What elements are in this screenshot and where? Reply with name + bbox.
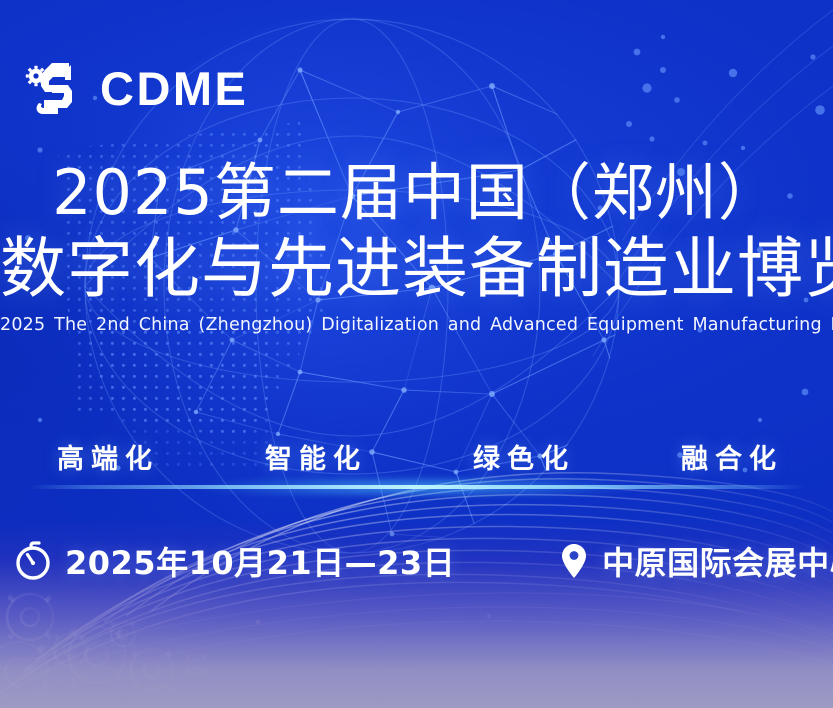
keyword-item-2: 智能化 — [258, 437, 367, 476]
event-info-row: 2025年10月21日—23日 中原国际会展中心 — [0, 538, 833, 584]
brand-logo-text: CDME — [100, 65, 248, 112]
event-venue-text: 中原国际会展中心 — [602, 538, 833, 584]
title-block: 2025第二届中国（郑州） 数字化与先进装备制造业博览会 2025 The 2n… — [0, 160, 833, 335]
event-title-line2: 数字化与先进装备制造业博览会 — [0, 233, 833, 306]
event-title-line1: 2025第二届中国（郑州） — [0, 160, 833, 227]
event-banner: CDME 2025第二届中国（郑州） 数字化与先进装备制造业博览会 2025 T… — [0, 0, 833, 708]
event-date-item: 2025年10月21日—23日 — [14, 538, 455, 584]
event-venue-item: 中原国际会展中心 — [559, 538, 833, 584]
brand-logo: CDME — [22, 55, 248, 121]
location-pin-icon — [559, 541, 589, 581]
keyword-item-1: 高端化 — [50, 437, 159, 476]
clock-icon — [14, 541, 52, 581]
keyword-item-3: 绿色化 — [466, 437, 575, 476]
cdme-gear-s-logo-icon — [22, 55, 86, 121]
keyword-item-4: 融合化 — [674, 437, 783, 476]
keyword-list: 高端化 智能化 绿色化 融合化 — [50, 437, 783, 476]
section-divider — [28, 485, 805, 489]
event-date-text: 2025年10月21日—23日 — [65, 538, 455, 584]
event-title-english: 2025 The 2nd China (Zhengzhou) Digitaliz… — [0, 315, 833, 335]
